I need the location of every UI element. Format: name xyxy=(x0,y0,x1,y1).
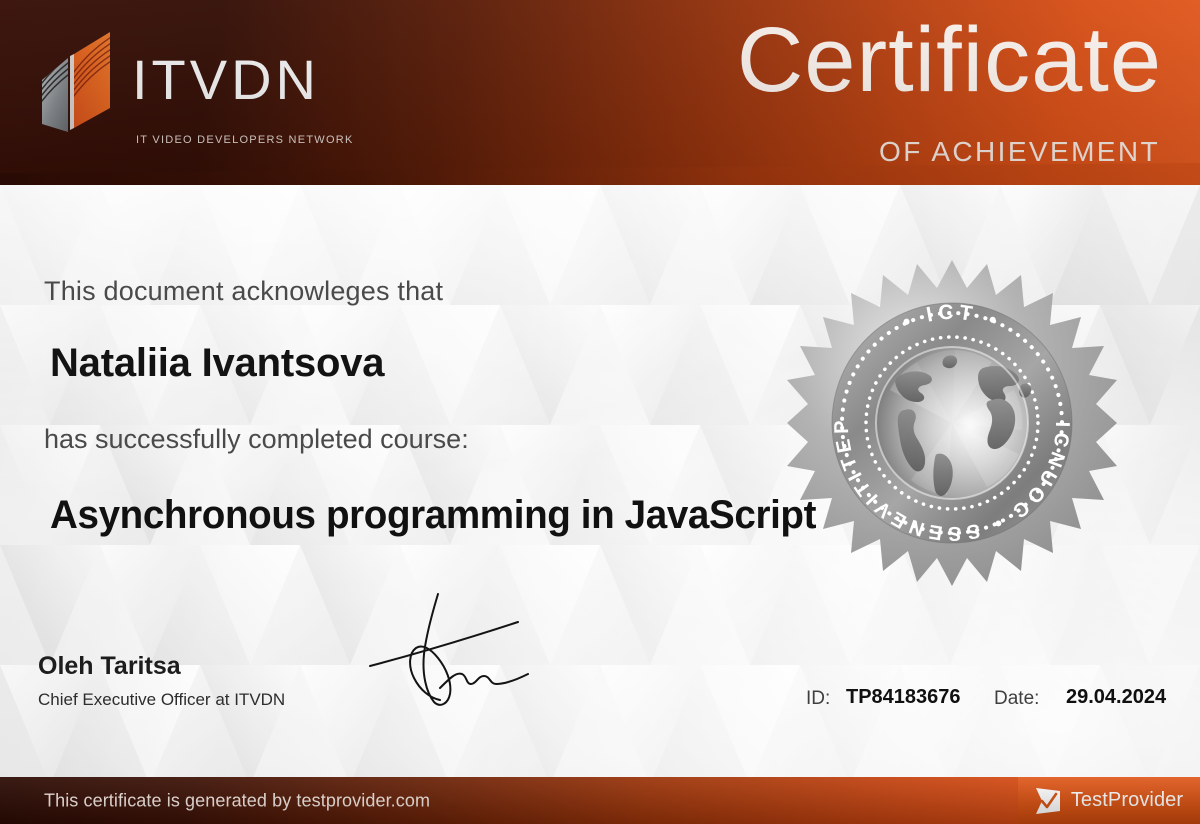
certificate: ITVDN IT VIDEO DEVELOPERS NETWORK Certif… xyxy=(0,0,1200,824)
itvdn-tagline: IT VIDEO DEVELOPERS NETWORK xyxy=(136,134,354,146)
checkmark-badge-icon xyxy=(1035,787,1061,815)
completion-text: has successfully completed course: xyxy=(44,424,469,455)
page-title: Certificate xyxy=(737,12,1162,109)
acknowledgement-text: This document acknowleges that xyxy=(44,276,443,307)
course-title: Asynchronous programming in JavaScript xyxy=(50,493,816,538)
footer-note: This certificate is generated by testpro… xyxy=(44,790,430,811)
date-value: 29.04.2024 xyxy=(1066,686,1166,709)
signatory-name: Oleh Taritsa xyxy=(38,652,181,681)
itvdn-parallelogram-logo-icon xyxy=(38,24,114,134)
recipient-name: Nataliia Ivantsova xyxy=(50,341,384,386)
certificate-meta: ID: TP84183676 Date: 29.04.2024 xyxy=(806,686,1166,712)
date-label: Date: xyxy=(994,688,1039,710)
testprovider-name: TestProvider xyxy=(1071,789,1183,812)
itvdn-wordmark: ITVDN xyxy=(132,52,320,108)
id-value: TP84183676 xyxy=(846,686,961,709)
signatory-role: Chief Executive Officer at ITVDN xyxy=(38,690,285,710)
testprovider-badge[interactable]: TestProvider xyxy=(1018,777,1200,824)
certificate-header: ITVDN IT VIDEO DEVELOPERS NETWORK Certif… xyxy=(0,0,1200,185)
handwritten-signature-icon xyxy=(368,592,544,708)
id-label: ID: xyxy=(806,688,830,710)
itvdn-logo: ITVDN IT VIDEO DEVELOPERS NETWORK xyxy=(38,22,338,140)
certificate-footer: This certificate is generated by testpro… xyxy=(0,777,1200,824)
page-subtitle: OF ACHIEVEMENT xyxy=(879,136,1160,168)
ict-council-seal: • ICT • NO LICNUOC • SSENEVITITEPMOC xyxy=(787,258,1117,588)
